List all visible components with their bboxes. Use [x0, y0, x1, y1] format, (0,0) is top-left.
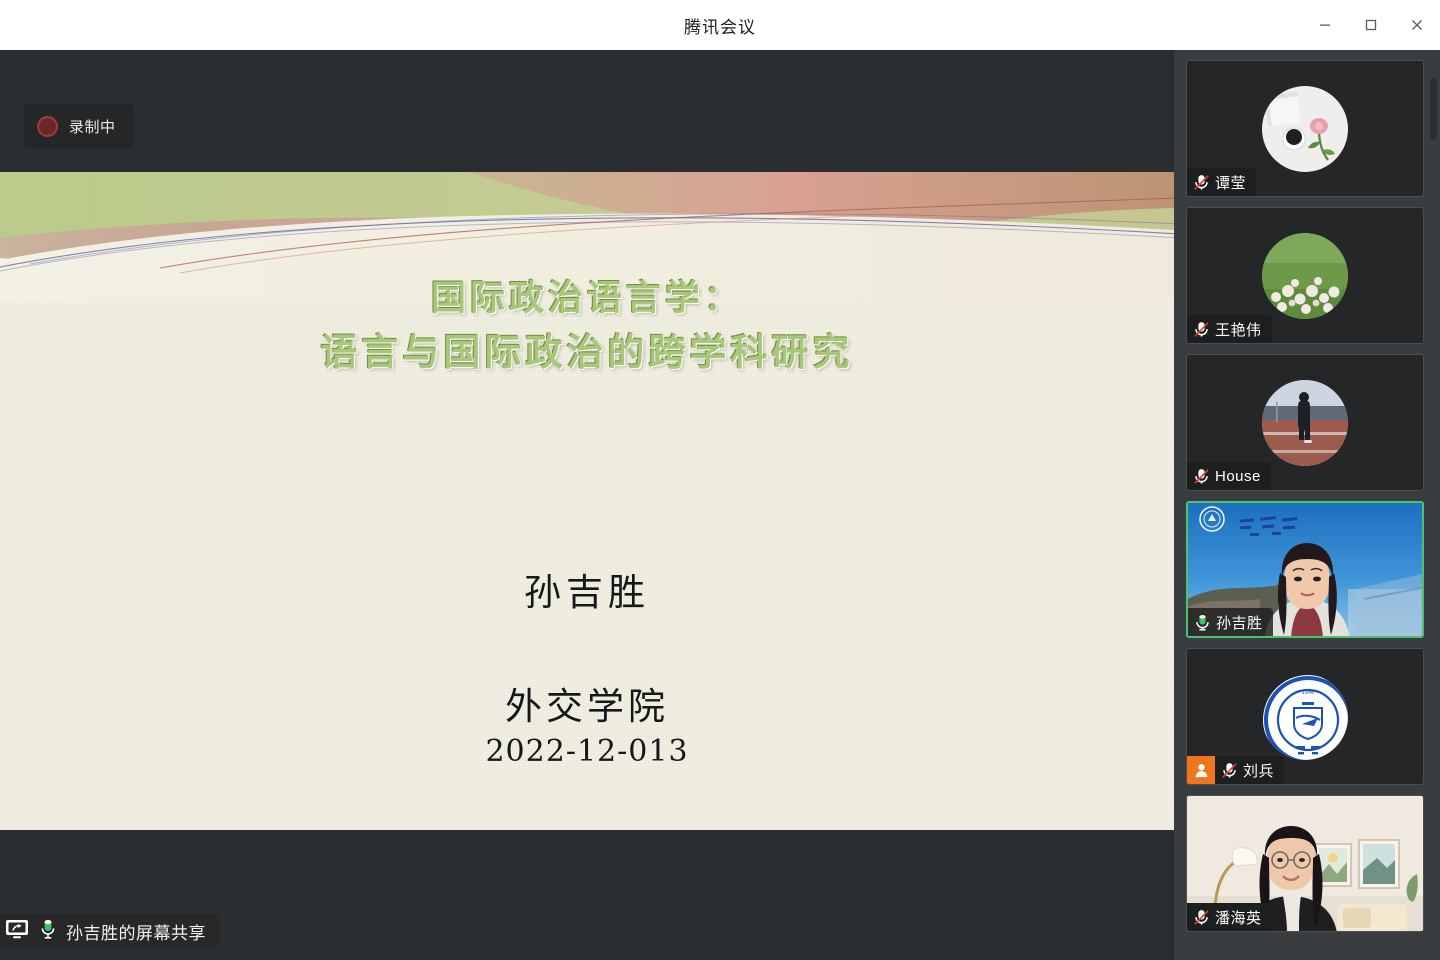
- slide-title-line1: 国际政治语言学：: [0, 272, 1174, 326]
- participant-tile[interactable]: House: [1186, 354, 1424, 491]
- screen-share-icon: [4, 918, 30, 945]
- slide-organization: 外交学院: [0, 676, 1174, 730]
- participant-name: House: [1215, 468, 1261, 485]
- participant-name: 刘兵: [1243, 760, 1274, 781]
- window-controls: [1302, 0, 1440, 50]
- participant-nameplate: 王艳伟: [1187, 315, 1272, 343]
- participant-list: 谭莹: [1186, 60, 1428, 932]
- close-icon: [1409, 17, 1425, 33]
- mic-muted-icon: [1187, 903, 1215, 931]
- participant-tile[interactable]: 潘海英: [1186, 795, 1424, 932]
- mic-on-icon: [39, 918, 57, 945]
- participant-name: 孙吉胜: [1216, 612, 1263, 633]
- minimize-icon: [1317, 17, 1333, 33]
- recording-badge: 录制中: [24, 104, 134, 148]
- participant-nameplate: 刘兵: [1187, 756, 1284, 784]
- mic-muted-icon: [1215, 756, 1243, 784]
- participant-nameplate: 潘海英: [1187, 903, 1272, 931]
- participant-nameplate: House: [1187, 462, 1271, 490]
- slide-title-line2: 语言与国际政治的跨学科研究: [0, 326, 1174, 380]
- record-dot-icon: [37, 116, 58, 137]
- minimize-button[interactable]: [1302, 0, 1348, 50]
- screen-share-indicator: 孙吉胜的屏幕共享: [0, 914, 220, 948]
- participant-tile[interactable]: 谭莹: [1186, 60, 1424, 197]
- svg-text:1946: 1946: [1302, 690, 1315, 696]
- maximize-button[interactable]: [1348, 0, 1394, 50]
- rail-scrollbar[interactable]: [1430, 78, 1437, 140]
- participant-tile[interactable]: 1946: [1186, 648, 1424, 785]
- title-bar: 腾讯会议: [0, 0, 1440, 50]
- maximize-icon: [1363, 17, 1379, 33]
- participant-nameplate: 谭莹: [1187, 168, 1256, 196]
- avatar: 1946: [1262, 674, 1348, 760]
- participant-nameplate: 孙吉胜: [1188, 608, 1273, 636]
- avatar: [1262, 86, 1348, 172]
- presentation-slide: 国际政治语言学： 语言与国际政治的跨学科研究 孙吉胜 外交学院 2022-12-…: [0, 172, 1174, 830]
- mic-on-icon: [1188, 608, 1216, 636]
- host-badge-icon: [1187, 756, 1215, 784]
- share-owner-label: 孙吉胜的屏幕共享: [66, 919, 206, 944]
- slide-title: 国际政治语言学： 语言与国际政治的跨学科研究: [0, 272, 1174, 380]
- participant-tile[interactable]: 王艳伟: [1186, 207, 1424, 344]
- slide-date: 2022-12-013: [0, 734, 1174, 769]
- participant-name: 潘海英: [1215, 907, 1262, 928]
- participant-tile-active-speaker[interactable]: 孙吉胜: [1186, 501, 1424, 638]
- mic-muted-icon: [1187, 462, 1215, 490]
- avatar: [1262, 380, 1348, 466]
- close-button[interactable]: [1394, 0, 1440, 50]
- slide-speaker-name: 孙吉胜: [0, 562, 1174, 616]
- participant-name: 王艳伟: [1215, 319, 1262, 340]
- avatar: [1262, 233, 1348, 319]
- shared-screen-stage[interactable]: 录制中: [0, 50, 1174, 960]
- window-title: 腾讯会议: [684, 13, 756, 38]
- participant-rail[interactable]: 谭莹: [1174, 50, 1440, 960]
- participant-name: 谭莹: [1215, 172, 1246, 193]
- mic-muted-icon: [1187, 315, 1215, 343]
- recording-label: 录制中: [69, 116, 116, 137]
- meeting-window: 腾讯会议 录制中: [0, 0, 1440, 960]
- mic-muted-icon: [1187, 168, 1215, 196]
